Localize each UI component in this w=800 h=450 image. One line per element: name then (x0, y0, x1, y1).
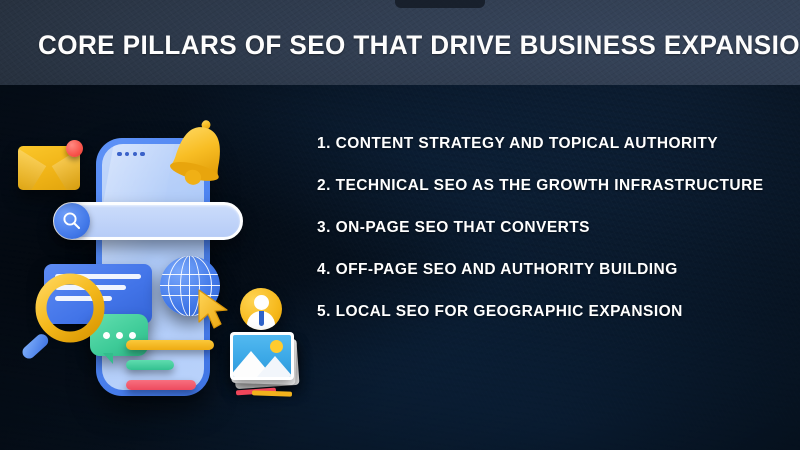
search-bar[interactable] (53, 202, 243, 240)
magnifying-glass-icon (18, 266, 110, 370)
seo-3d-illustration (8, 118, 300, 413)
list-item: 4. OFF-PAGE SEO AND AUTHORITY BUILDING (317, 258, 787, 282)
page-title: CORE PILLARS OF SEO THAT DRIVE BUSINESS … (38, 30, 767, 61)
list-item: 5. LOCAL SEO FOR GEOGRAPHIC EXPANSION (317, 300, 787, 324)
bar-yellow (126, 340, 214, 350)
bar-green (126, 360, 174, 370)
pillars-list: 1. CONTENT STRATEGY AND TOPICAL AUTHORIT… (317, 132, 787, 324)
list-item: 3. ON-PAGE SEO THAT CONVERTS (317, 216, 787, 240)
header-notch-decoration (395, 0, 485, 8)
bar-pink (126, 380, 196, 390)
list-item: 1. CONTENT STRATEGY AND TOPICAL AUTHORIT… (317, 132, 787, 156)
notification-dot-icon (66, 140, 83, 157)
list-item: 2. TECHNICAL SEO AS THE GROWTH INFRASTRU… (317, 174, 787, 198)
photo-stack-icon (230, 332, 300, 390)
search-icon[interactable] (54, 203, 90, 239)
cursor-arrow-icon (196, 288, 230, 330)
content-bars-group (126, 340, 222, 396)
phone-speaker-icon (116, 150, 146, 158)
infographic-poster: CORE PILLARS OF SEO THAT DRIVE BUSINESS … (0, 0, 800, 450)
user-avatar-icon (240, 288, 282, 330)
bell-icon (166, 118, 232, 188)
